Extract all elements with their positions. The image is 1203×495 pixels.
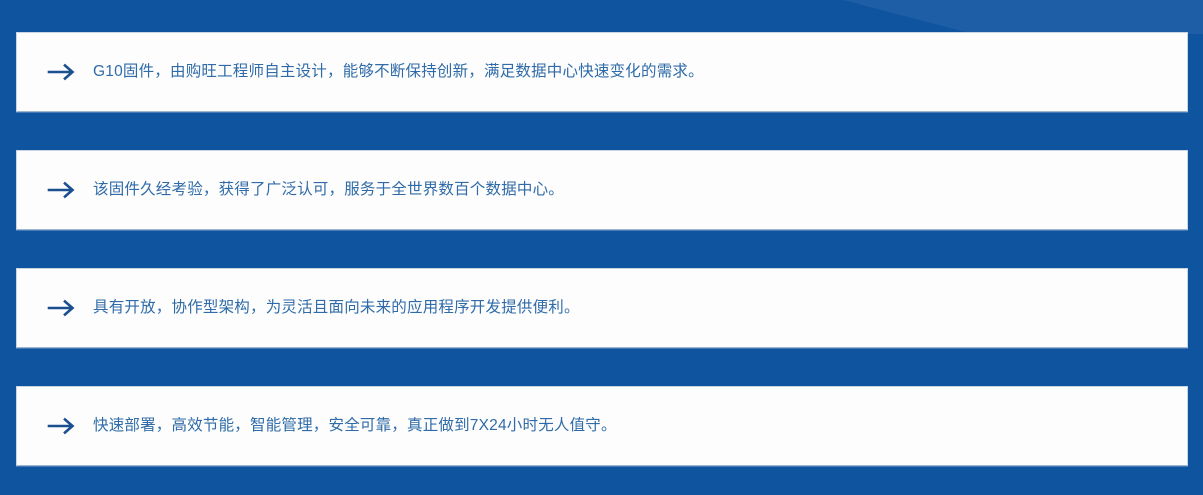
feature-text: 该固件久经考验，获得了广泛认可，服务于全世界数百个数据中心。 xyxy=(93,179,564,201)
feature-text: 快速部署，高效节能，智能管理，安全可靠，真正做到7X24小时无人值守。 xyxy=(93,415,617,437)
feature-text: G10固件，由购旺工程师自主设计，能够不断保持创新，满足数据中心快速变化的需求。 xyxy=(93,61,704,83)
list-item: 该固件久经考验，获得了广泛认可，服务于全世界数百个数据中心。 xyxy=(16,150,1188,230)
arrow-right-icon xyxy=(47,416,81,436)
corner-accent-decoration xyxy=(843,0,1203,34)
list-item: 快速部署，高效节能，智能管理，安全可靠，真正做到7X24小时无人值守。 xyxy=(16,386,1188,466)
feature-list: G10固件，由购旺工程师自主设计，能够不断保持创新，满足数据中心快速变化的需求。… xyxy=(16,32,1188,466)
arrow-right-icon xyxy=(47,62,81,82)
feature-highlight-panel: G10固件，由购旺工程师自主设计，能够不断保持创新，满足数据中心快速变化的需求。… xyxy=(0,0,1203,495)
list-item: 具有开放，协作型架构，为灵活且面向未来的应用程序开发提供便利。 xyxy=(16,268,1188,348)
feature-text: 具有开放，协作型架构，为灵活且面向未来的应用程序开发提供便利。 xyxy=(93,297,580,319)
arrow-right-icon xyxy=(47,298,81,318)
list-item: G10固件，由购旺工程师自主设计，能够不断保持创新，满足数据中心快速变化的需求。 xyxy=(16,32,1188,112)
arrow-right-icon xyxy=(47,180,81,200)
